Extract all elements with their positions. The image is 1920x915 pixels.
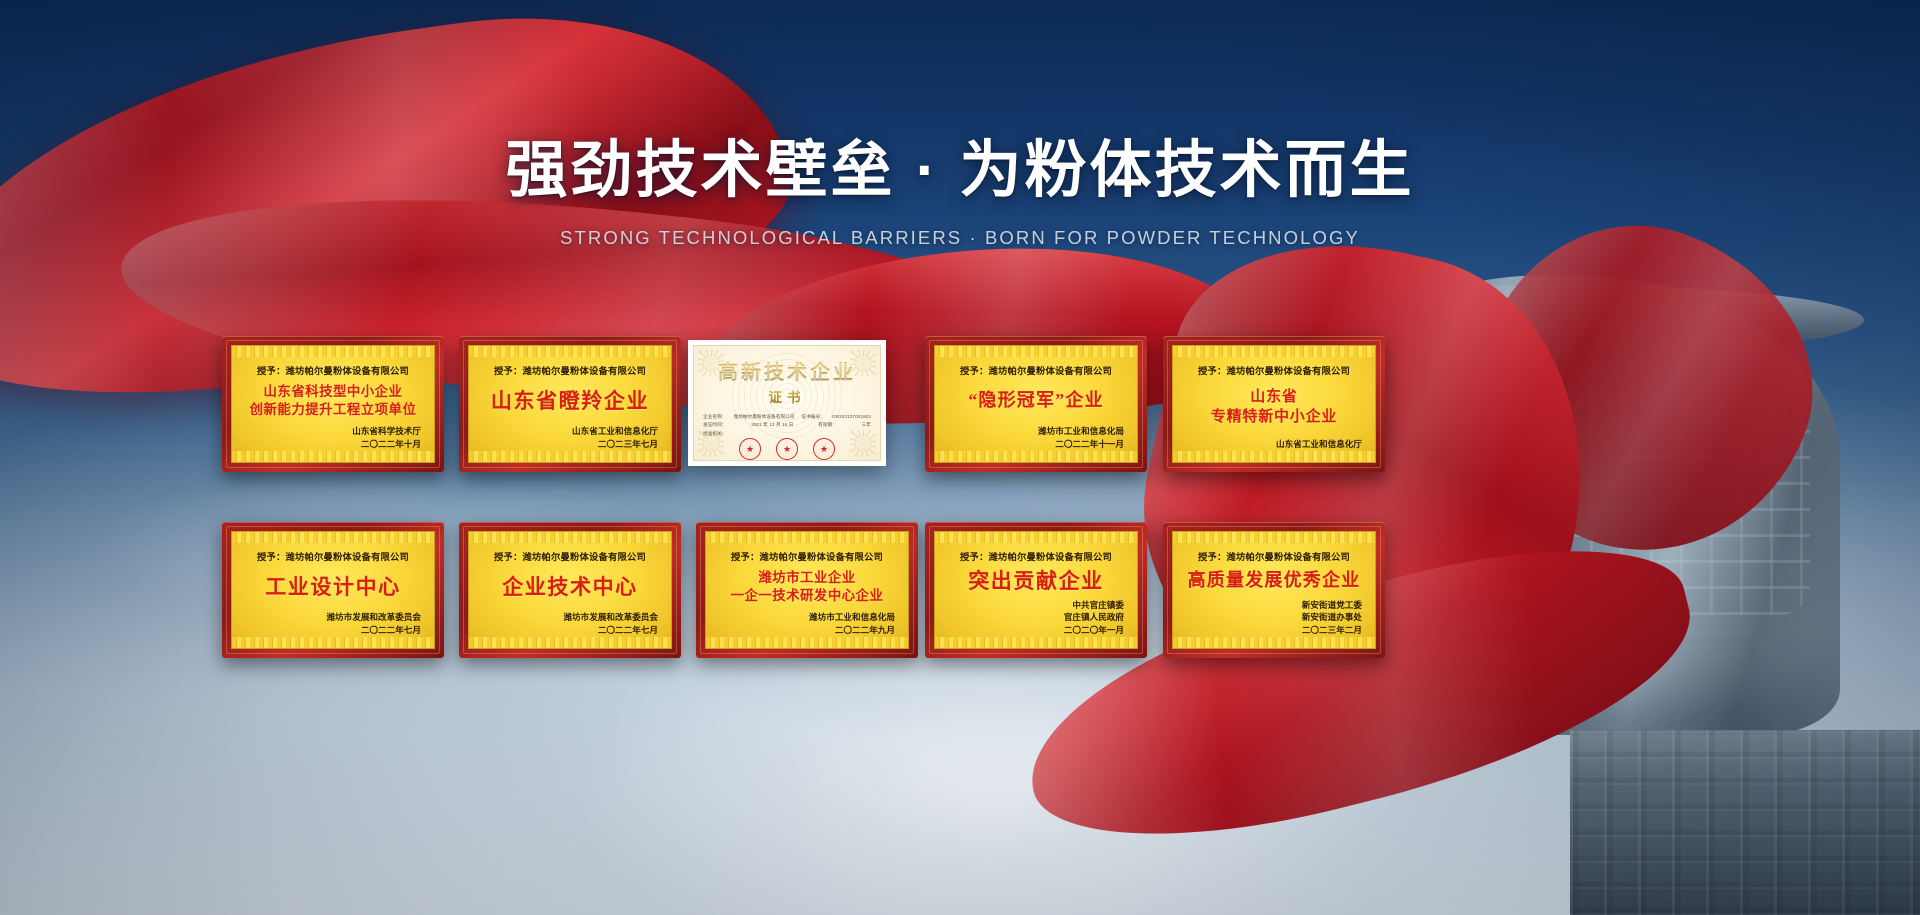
plaque-title-line: 一企一技术研发中心企业 <box>731 587 884 605</box>
certificate-field-value: 2021 年 12 月 16 日 <box>751 421 793 429</box>
plaque-grantee: 授予：潍坊帕尔曼粉体设备有限公司 <box>257 549 409 563</box>
award-plaque-industrial-design-center[interactable]: 授予：潍坊帕尔曼粉体设备有限公司 工业设计中心 潍坊市发展和改革委员会 二〇二二… <box>222 522 444 658</box>
page-subtitle: STRONG TECHNOLOGICAL BARRIERS · BORN FOR… <box>0 227 1920 249</box>
plaque-title: 工业设计中心 <box>241 563 425 611</box>
awards-grid: 授予：潍坊帕尔曼粉体设备有限公司 山东省科技型中小企业 创新能力提升工程立项单位… <box>0 330 1920 702</box>
plaque-footer: 新安街道党工委 新安街道办事处 二〇二三年二月 <box>1302 599 1362 636</box>
plaque-title-line: 专精特新中小企业 <box>1211 407 1337 427</box>
award-plaque-outstanding-contribution-enterprise[interactable]: 授予：潍坊帕尔曼粉体设备有限公司 突出贡献企业 中共官庄镇委 官庄镇人民政府 二… <box>925 522 1147 658</box>
plaque-footer: 中共官庄镇委 官庄镇人民政府 二〇二〇年一月 <box>1064 599 1124 636</box>
plaque-title: 企业技术中心 <box>478 563 662 611</box>
certificate-seals: ★ ★ ★ <box>739 438 835 460</box>
plaque-issuer: 中共官庄镇委 <box>1064 599 1124 611</box>
plaque-issuer: 官庄镇人民政府 <box>1064 611 1124 623</box>
plaque-title: 山东省瞪羚企业 <box>478 377 662 425</box>
plaque-footer: 潍坊市发展和改革委员会 二〇二二年七月 <box>563 611 658 636</box>
plaque-title-line: 山东省 <box>1250 387 1297 407</box>
award-plaque-gazelle-enterprise[interactable]: 授予：潍坊帕尔曼粉体设备有限公司 山东省瞪羚企业 山东省工业和信息化厅 二〇二三… <box>459 336 681 472</box>
banner-heading-block: 强劲技术壁垒 · 为粉体技术而生 STRONG TECHNOLOGICAL BA… <box>0 136 1920 249</box>
plaque-title: 潍坊市工业企业 一企一技术研发中心企业 <box>715 563 899 611</box>
certificate-field-value: GR202137001602 <box>832 413 871 421</box>
certificate-subtitle: 证书 <box>769 386 806 406</box>
award-plaque-one-enterprise-one-tech-rd-center[interactable]: 授予：潍坊帕尔曼粉体设备有限公司 潍坊市工业企业 一企一技术研发中心企业 潍坊市… <box>696 522 918 658</box>
plaque-title-line: 工业设计中心 <box>265 574 401 600</box>
certificate-field-label: 企业名称： <box>703 413 726 421</box>
plaque-issuer: 山东省科学技术厅 <box>352 425 421 437</box>
official-seal-icon: ★ <box>776 438 798 460</box>
certificate-field-value: 三年 <box>862 421 871 429</box>
plaque-footer: 山东省科学技术厅 二〇二二年十月 <box>352 425 421 450</box>
plaque-issuer: 山东省工业和信息化厅 <box>572 425 658 437</box>
certificate-field-label: 发证时间： <box>703 421 726 429</box>
plaque-grantee: 授予：潍坊帕尔曼粉体设备有限公司 <box>1198 549 1350 563</box>
plaque-grantee: 授予：潍坊帕尔曼粉体设备有限公司 <box>731 549 883 563</box>
plaque-issuer: 新安街道办事处 <box>1302 611 1362 623</box>
plaque-issuer: 山东省工业和信息化厅 <box>1276 438 1362 450</box>
certificate-field-label: 证书编号： <box>802 413 825 421</box>
plaque-title: 突出贡献企业 <box>944 563 1128 599</box>
plaque-title: “隐形冠军”企业 <box>944 377 1128 425</box>
plaque-title-line: 山东省瞪羚企业 <box>491 388 649 414</box>
plaque-footer: 潍坊市发展和改革委员会 二〇二二年七月 <box>326 611 421 636</box>
plaque-issuer: 潍坊市发展和改革委员会 <box>326 611 421 623</box>
plaque-date: 二〇二二年七月 <box>563 624 658 636</box>
certificate-field-label: 批准机关： <box>703 430 726 438</box>
plaque-title-line: 企业技术中心 <box>502 574 638 600</box>
plaque-title: 山东省 专精特新中小企业 <box>1182 377 1366 438</box>
plaque-footer: 潍坊市工业和信息化局 二〇二二年九月 <box>809 611 895 636</box>
plaque-footer: 潍坊市工业和信息化局 二〇二二年十一月 <box>1038 425 1124 450</box>
plaque-grantee: 授予：潍坊帕尔曼粉体设备有限公司 <box>494 549 646 563</box>
award-plaque-enterprise-technology-center[interactable]: 授予：潍坊帕尔曼粉体设备有限公司 企业技术中心 潍坊市发展和改革委员会 二〇二二… <box>459 522 681 658</box>
certificate-fields: 企业名称： 潍坊帕尔曼粉体设备有限公司 证书编号： GR202137001602… <box>694 409 880 438</box>
award-plaque-specialized-sme[interactable]: 授予：潍坊帕尔曼粉体设备有限公司 山东省 专精特新中小企业 山东省工业和信息化厅 <box>1163 336 1385 472</box>
plaque-title-line: 高质量发展优秀企业 <box>1188 569 1361 592</box>
plaque-footer: 山东省工业和信息化厅 二〇二三年七月 <box>572 425 658 450</box>
certificate-field-value: 潍坊帕尔曼粉体设备有限公司 <box>734 413 795 421</box>
plaque-date: 二〇二二年七月 <box>326 624 421 636</box>
plaque-date: 二〇二三年二月 <box>1302 624 1362 636</box>
plaque-grantee: 授予：潍坊帕尔曼粉体设备有限公司 <box>960 549 1112 563</box>
plaque-title-line: “隐形冠军”企业 <box>968 389 1104 412</box>
plaque-grantee: 授予：潍坊帕尔曼粉体设备有限公司 <box>257 363 409 377</box>
certificate-title: 高新技术企业 <box>718 356 856 385</box>
awards-row-1: 授予：潍坊帕尔曼粉体设备有限公司 山东省科技型中小企业 创新能力提升工程立项单位… <box>0 330 1920 478</box>
plaque-title-line: 创新能力提升工程立项单位 <box>250 401 417 419</box>
high-tech-enterprise-certificate[interactable]: 高新技术企业 证书 企业名称： 潍坊帕尔曼粉体设备有限公司 证书编号： GR20… <box>688 340 886 466</box>
plaque-issuer: 潍坊市工业和信息化局 <box>809 611 895 623</box>
plaque-footer: 山东省工业和信息化厅 <box>1276 438 1362 450</box>
award-plaque-sme-innovation-project[interactable]: 授予：潍坊帕尔曼粉体设备有限公司 山东省科技型中小企业 创新能力提升工程立项单位… <box>222 336 444 472</box>
page-title: 强劲技术壁垒 · 为粉体技术而生 <box>0 136 1920 205</box>
official-seal-icon: ★ <box>739 438 761 460</box>
plaque-issuer: 新安街道党工委 <box>1302 599 1362 611</box>
plaque-title: 高质量发展优秀企业 <box>1182 563 1366 599</box>
official-seal-icon: ★ <box>813 438 835 460</box>
plaque-issuer: 潍坊市工业和信息化局 <box>1038 425 1124 437</box>
plaque-date: 二〇二二年十月 <box>352 438 421 450</box>
plaque-title-line: 山东省科技型中小企业 <box>264 383 403 401</box>
banner-stage: 强劲技术壁垒 · 为粉体技术而生 STRONG TECHNOLOGICAL BA… <box>0 0 1920 915</box>
certificate-field-label: 有效期： <box>818 421 837 429</box>
plaque-grantee: 授予：潍坊帕尔曼粉体设备有限公司 <box>494 363 646 377</box>
plaque-title: 山东省科技型中小企业 创新能力提升工程立项单位 <box>241 377 425 425</box>
plaque-date: 二〇二二年九月 <box>809 624 895 636</box>
awards-row-2: 授予：潍坊帕尔曼粉体设备有限公司 工业设计中心 潍坊市发展和改革委员会 二〇二二… <box>0 516 1920 664</box>
plaque-title-line: 潍坊市工业企业 <box>758 569 855 587</box>
plaque-date: 二〇二〇年一月 <box>1064 624 1124 636</box>
plaque-grantee: 授予：潍坊帕尔曼粉体设备有限公司 <box>960 363 1112 377</box>
plaque-date: 二〇二二年十一月 <box>1038 438 1124 450</box>
plaque-issuer: 潍坊市发展和改革委员会 <box>563 611 658 623</box>
plaque-date: 二〇二三年七月 <box>572 438 658 450</box>
award-plaque-high-quality-development-excellent-enterprise[interactable]: 授予：潍坊帕尔曼粉体设备有限公司 高质量发展优秀企业 新安街道党工委 新安街道办… <box>1163 522 1385 658</box>
award-plaque-hidden-champion-enterprise[interactable]: 授予：潍坊帕尔曼粉体设备有限公司 “隐形冠军”企业 潍坊市工业和信息化局 二〇二… <box>925 336 1147 472</box>
plaque-title-line: 突出贡献企业 <box>968 568 1104 594</box>
plaque-grantee: 授予：潍坊帕尔曼粉体设备有限公司 <box>1198 363 1350 377</box>
